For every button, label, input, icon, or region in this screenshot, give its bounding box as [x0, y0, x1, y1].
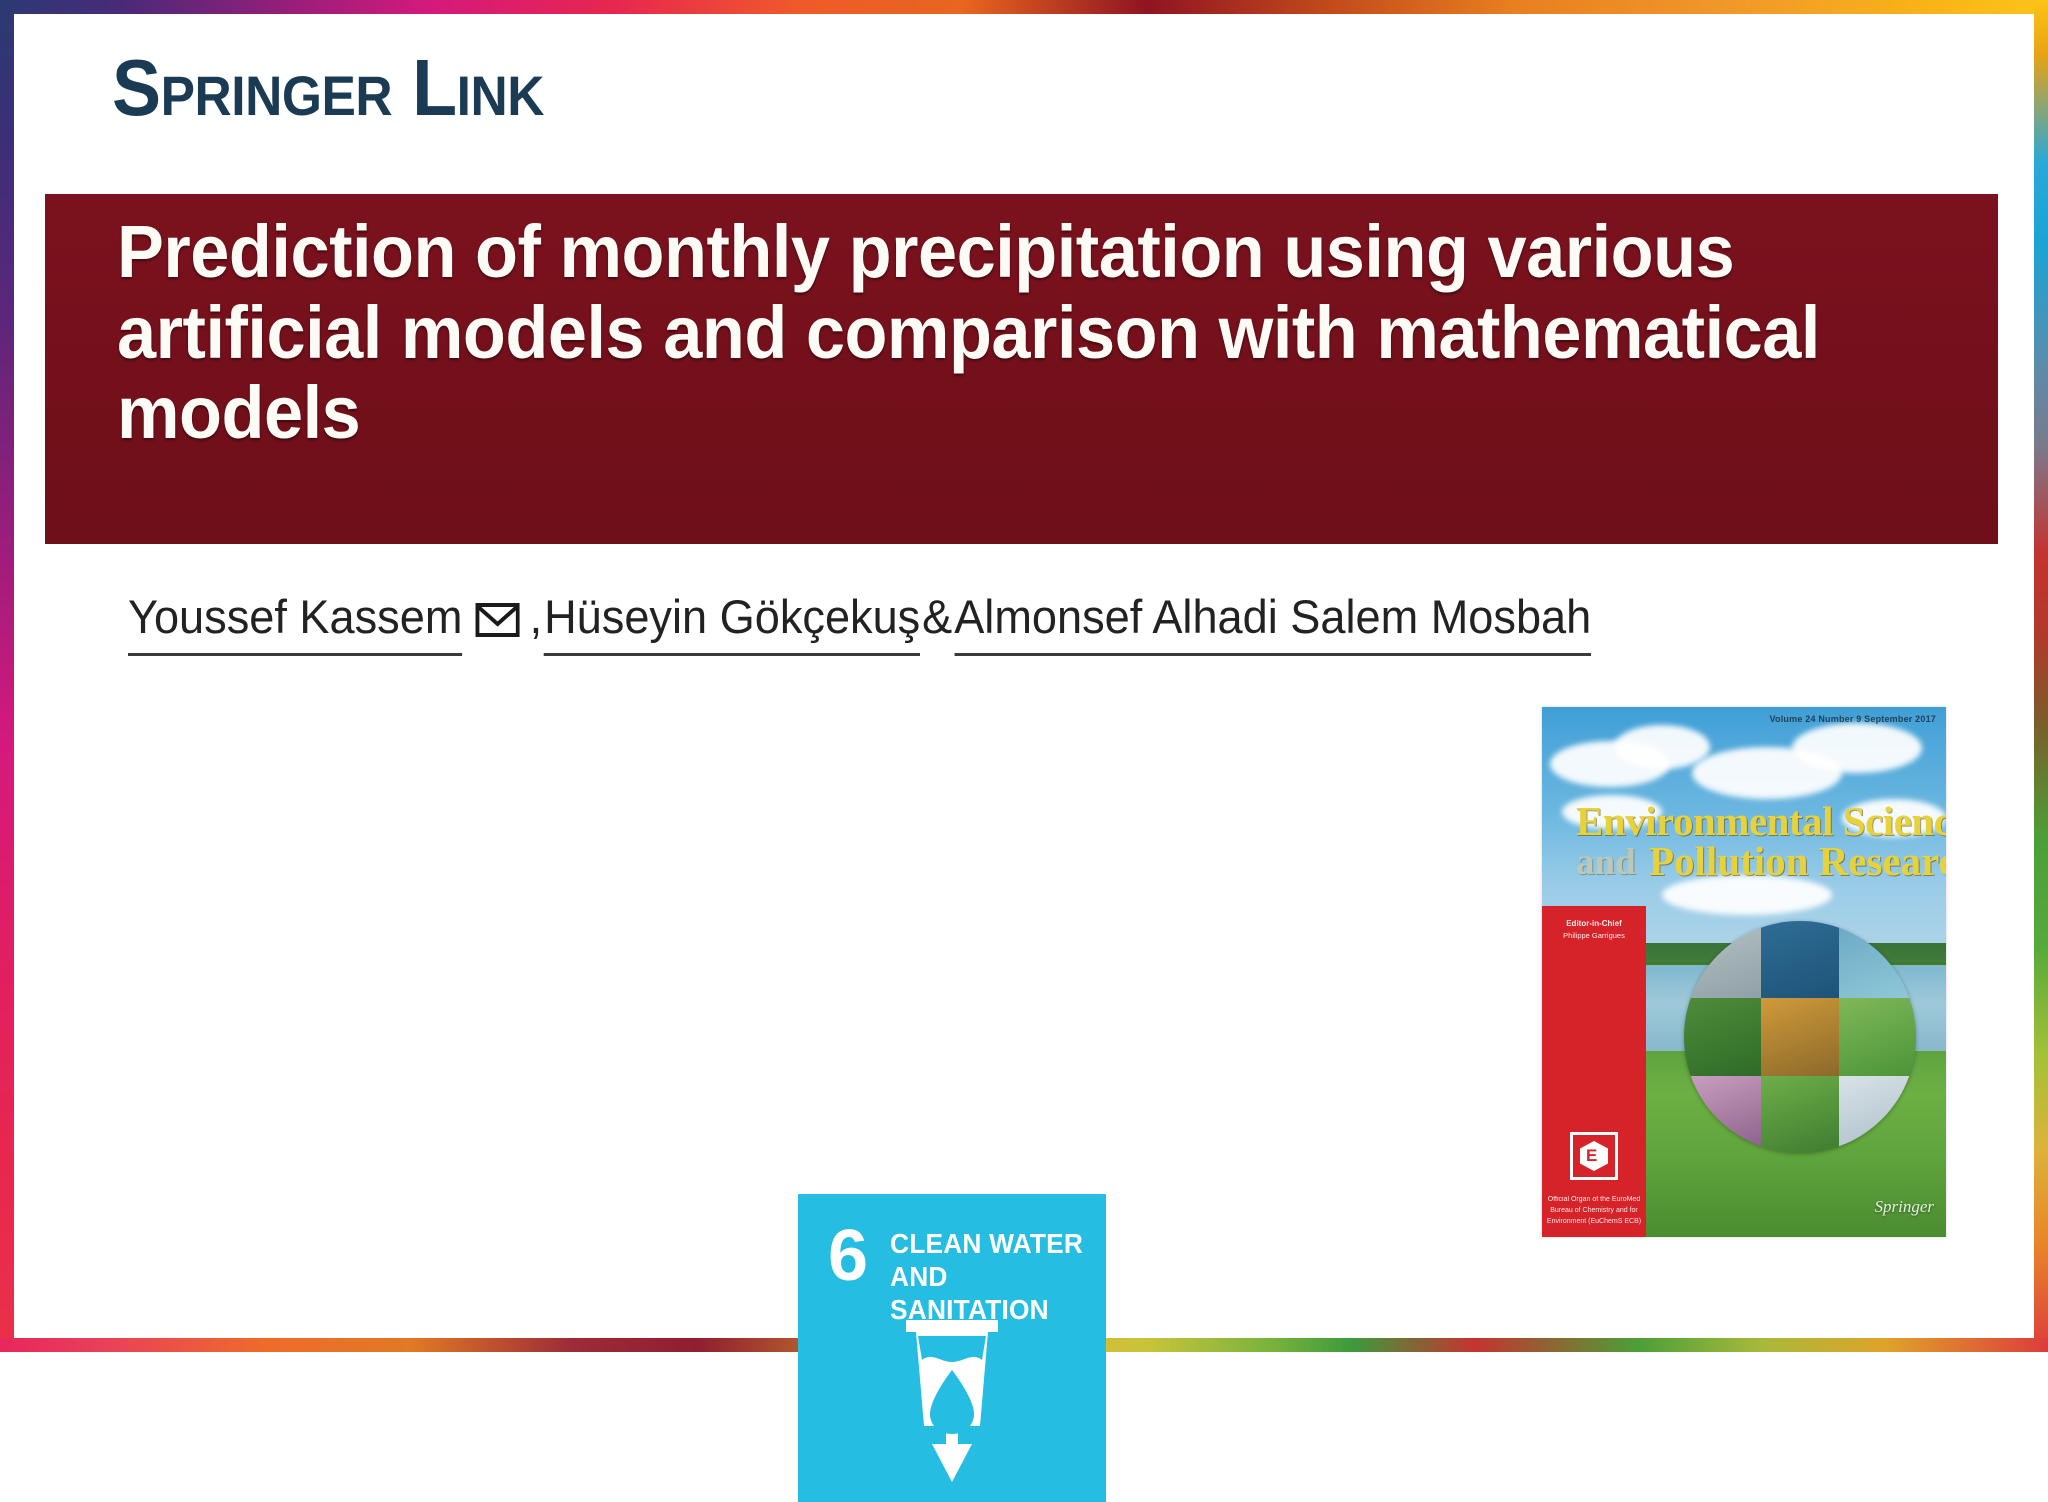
journal-cover-image[interactable]: Volume 24 Number 9 September 2017 Enviro…	[1542, 707, 1946, 1237]
cover-issue-line: Volume 24 Number 9 September 2017	[1770, 714, 1937, 724]
author-separator-1: ,	[528, 588, 544, 647]
sdg-label: CLEAN WATER AND SANITATION	[890, 1227, 1093, 1326]
border-gradient-right	[2034, 0, 2048, 1352]
cover-society-letter: E	[1586, 1147, 1597, 1164]
border-gradient-left	[0, 0, 14, 1352]
cover-red-sidebar: Editor-in-Chief Philippe Garrigues E Off…	[1542, 906, 1646, 1237]
author-link-2[interactable]: Hüseyin Gökçekuş	[544, 588, 920, 656]
author-link-1[interactable]: Youssef Kassem	[128, 588, 462, 656]
author-separator-2: &	[920, 588, 954, 647]
cover-society-hex-icon: E	[1570, 1132, 1618, 1180]
cover-publisher-logo: Springer	[1875, 1197, 1935, 1217]
author-list: Youssef Kassem, Hüseyin Gökçekuş & Almon…	[128, 588, 1818, 656]
cover-title-line2: Pollution Research	[1649, 837, 1946, 885]
cover-cloud	[1614, 725, 1710, 769]
sdg-6-badge[interactable]: 6 CLEAN WATER AND SANITATION	[798, 1194, 1106, 1502]
author-link-3[interactable]: Almonsef Alhadi Salem Mosbah	[954, 588, 1591, 656]
cover-society-note: Official Organ of the EuroMed Bureau of …	[1542, 1194, 1646, 1228]
cover-cloud	[1792, 723, 1922, 773]
sdg-number: 6	[828, 1220, 868, 1292]
cover-collage-globe	[1684, 921, 1916, 1153]
article-title[interactable]: Prediction of monthly precipitation usin…	[117, 212, 1877, 454]
water-glass-drop-arrow-icon	[894, 1316, 1010, 1486]
envelope-icon[interactable]	[476, 592, 520, 651]
border-gradient-top	[0, 0, 2048, 14]
springer-link-logo[interactable]: Springer Link	[112, 48, 544, 128]
article-card: Springer Link Prediction of monthly prec…	[0, 0, 2048, 1352]
cover-editor-block: Editor-in-Chief Philippe Garrigues	[1542, 918, 1646, 943]
cover-editor-label: Editor-in-Chief	[1566, 919, 1622, 928]
cover-editor-name: Philippe Garrigues	[1563, 931, 1625, 940]
article-title-banner: Prediction of monthly precipitation usin…	[45, 194, 1998, 544]
cover-title-and: and	[1576, 841, 1636, 884]
